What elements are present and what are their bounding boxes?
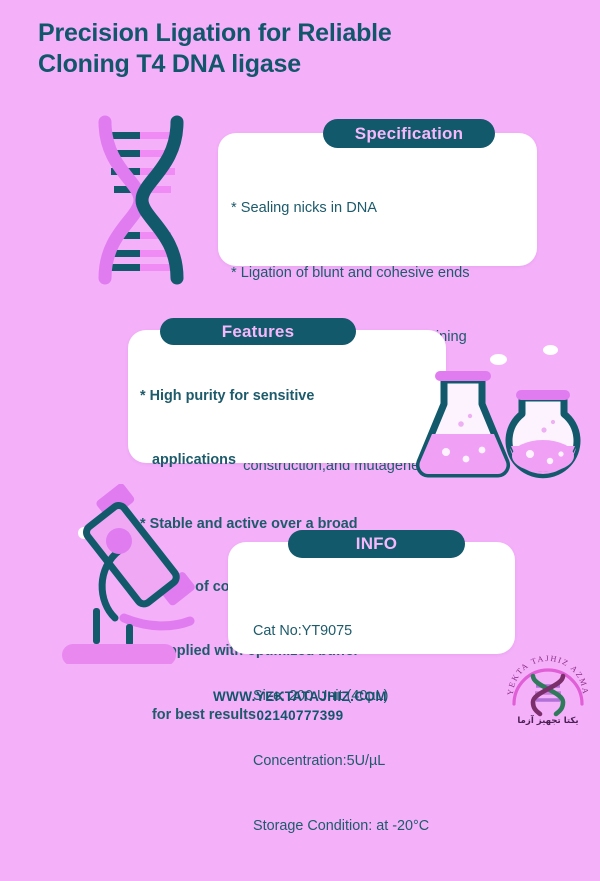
decorative-dot — [490, 354, 507, 365]
specification-heading-label: Specification — [355, 124, 463, 144]
dna-helix-illustration — [78, 112, 204, 288]
logo-persian-text: یکتا تجهیز آزما — [517, 714, 578, 726]
dna-icon — [78, 112, 204, 288]
list-item: * High purity for sensitive — [140, 386, 359, 407]
concentration-value: Concentration:5U/µL — [253, 751, 429, 773]
poster-canvas: Precision Ligation for Reliable Cloning … — [0, 0, 600, 729]
features-heading-pill: Features — [160, 318, 356, 345]
page-title: Precision Ligation for Reliable Cloning … — [38, 18, 508, 80]
list-item: * Sealing nicks in DNA — [231, 198, 470, 220]
info-heading-label: INFO — [356, 534, 397, 554]
decorative-dot — [543, 345, 558, 355]
storage-condition-value: Storage Condition: at -20°C — [253, 816, 429, 838]
features-heading-label: Features — [222, 322, 294, 342]
page-title-line-1: Precision Ligation for Reliable — [38, 18, 508, 49]
dna-helix-logo-icon: YEKTA TAJHIZ AZMA یکتا تجهیز آزما — [500, 652, 596, 726]
page-title-line-2: Cloning T4 DNA ligase — [38, 49, 508, 80]
microscope-icon — [62, 484, 242, 664]
list-item: * Ligation of blunt and cohesive ends — [231, 263, 470, 285]
microscope-illustration — [62, 484, 242, 664]
info-list: Cat No:YT9075 Size: 200 Unit (40µL) Conc… — [253, 578, 429, 881]
flasks-illustration — [404, 358, 600, 484]
info-heading-pill: INFO — [288, 530, 465, 558]
specification-heading-pill: Specification — [323, 119, 495, 148]
company-logo: YEKTA TAJHIZ AZMA یکتا تجهیز آزما — [500, 652, 596, 726]
flask-icon — [404, 358, 600, 484]
catalog-number: Cat No:YT9075 — [253, 621, 429, 643]
list-item: applications — [140, 450, 359, 471]
